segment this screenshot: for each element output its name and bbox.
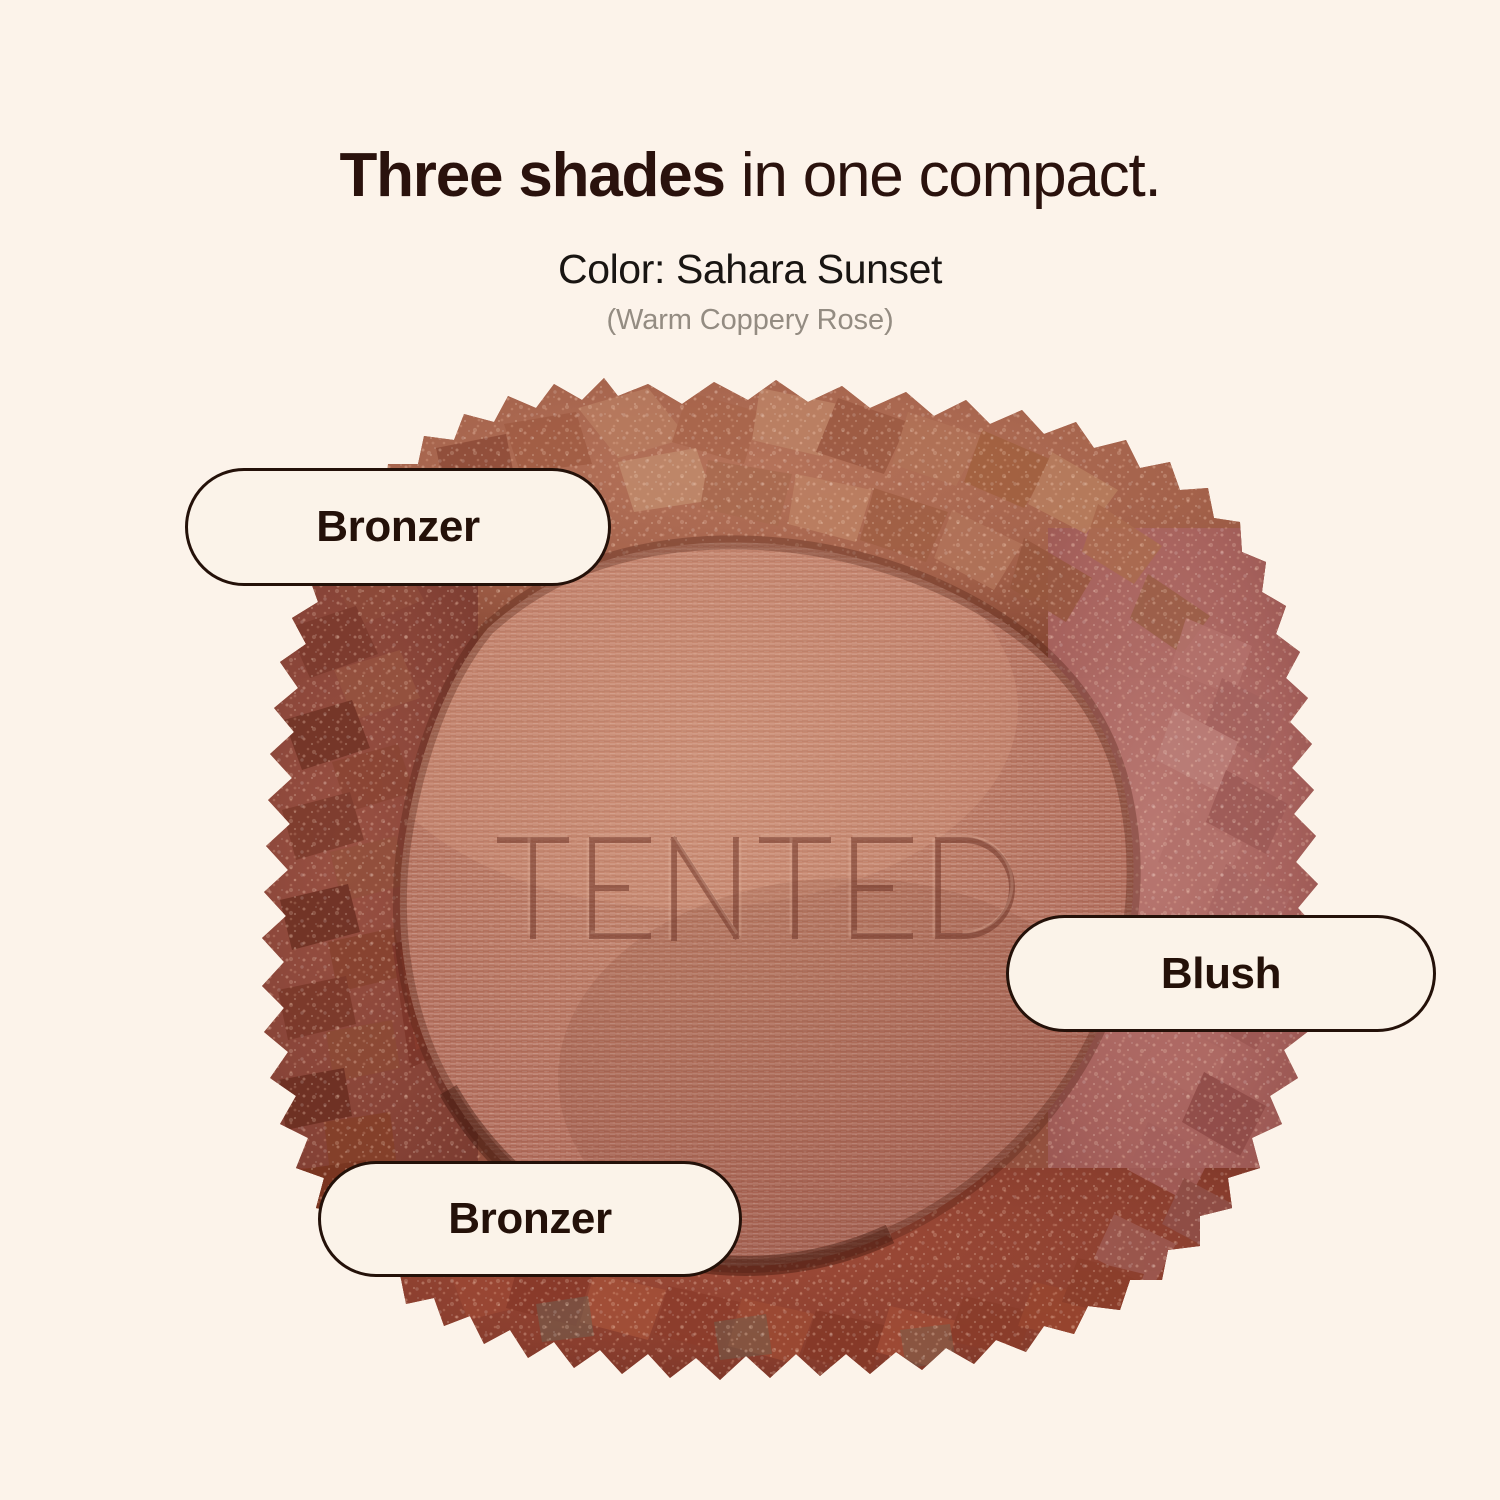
color-descriptor-label: (Warm Coppery Rose)	[0, 303, 1500, 337]
callout-blush-label: Blush	[1161, 949, 1281, 999]
callout-blush[interactable]: Blush	[1006, 915, 1436, 1032]
page-title: Three shades in one compact.	[0, 141, 1500, 211]
page-title-emphasis: Three shades	[339, 141, 724, 210]
callout-bronzer-top-label: Bronzer	[316, 502, 479, 552]
callout-bronzer-bottom[interactable]: Bronzer	[318, 1161, 742, 1277]
product-infographic: Three shades in one compact. Color: Saha…	[0, 0, 1500, 1500]
color-name-label: Color: Sahara Sunset	[0, 245, 1500, 293]
page-title-rest: in one compact.	[725, 141, 1161, 210]
callout-bronzer-bottom-label: Bronzer	[448, 1194, 611, 1244]
callout-bronzer-top[interactable]: Bronzer	[185, 468, 611, 586]
